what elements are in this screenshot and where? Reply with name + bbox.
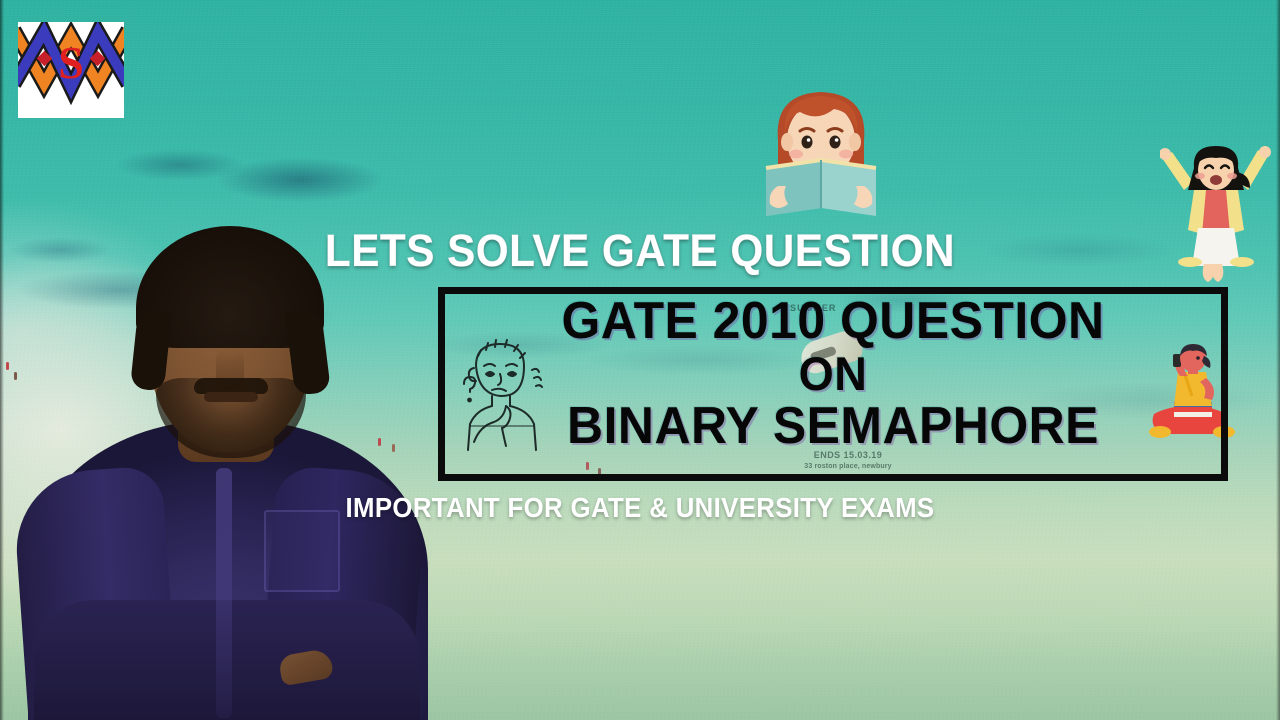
edge-vignette-left xyxy=(0,0,4,720)
poster-text-address: 33 roston place, newbury xyxy=(748,463,948,470)
edge-vignette-right xyxy=(1276,0,1280,720)
title-line-1: GATE 2010 QUESTION xyxy=(467,296,1199,347)
beach-figure xyxy=(6,362,9,370)
svg-text:S: S xyxy=(58,37,84,88)
channel-logo[interactable]: S xyxy=(18,22,124,118)
title-line-2: ON xyxy=(467,351,1199,397)
subtitle-text: IMPORTANT FOR GATE & UNIVERSITY EXAMS xyxy=(51,492,1229,524)
video-thumbnail: S xyxy=(0,0,1280,720)
headline-text: LETS SOLVE GATE QUESTION xyxy=(38,228,1241,273)
presenter-mouth xyxy=(204,392,258,402)
beach-figure xyxy=(14,372,17,380)
girl-reading-book-illustration xyxy=(760,82,882,220)
channel-logo-mark: S xyxy=(18,22,124,118)
title-text-stack: GATE 2010 QUESTION ON BINARY SEMAPHORE xyxy=(467,296,1199,452)
title-line-3: BINARY SEMAPHORE xyxy=(467,401,1199,452)
